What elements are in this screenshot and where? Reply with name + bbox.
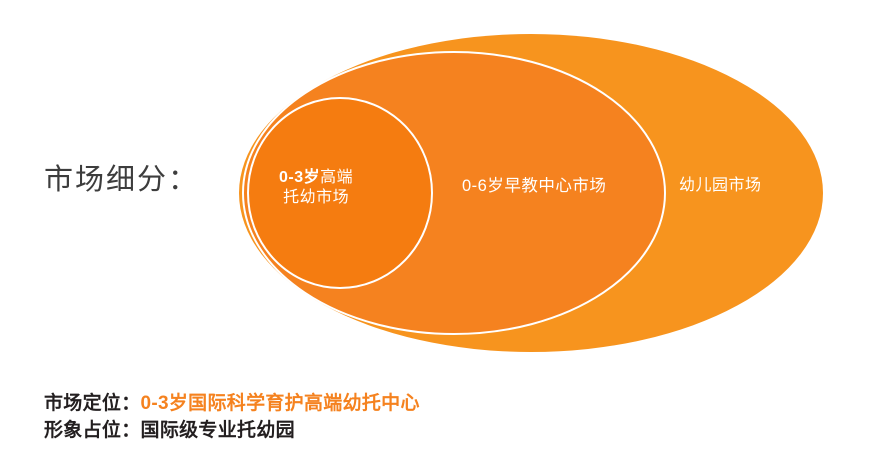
bottom-text-block: 市场定位：0-3岁国际科学育护高端幼托中心 形象占位：国际级专业托幼园 [44,390,824,444]
nested-ellipse-diagram: 幼儿园市场 0-6岁早教中心市场 0-3岁高端 托幼市场 [0,0,870,380]
market-positioning-line: 市场定位：0-3岁国际科学育护高端幼托中心 [44,390,824,417]
market-positioning-label: 市场定位： [44,393,141,414]
market-positioning-value: 0-3岁国际科学育护高端幼托中心 [141,393,420,414]
image-positioning-value: 国际级专业托幼园 [141,420,295,441]
image-positioning-line: 形象占位：国际级专业托幼园 [44,417,824,444]
slide-canvas: 市场细分： 幼儿园市场 0-6岁早教中心市场 0-3岁高端 托幼市场 市场定位：… [0,0,870,471]
venn-svg [0,0,870,380]
ellipse-inner-premium-nursery-market [248,98,432,288]
image-positioning-label: 形象占位： [44,420,141,441]
